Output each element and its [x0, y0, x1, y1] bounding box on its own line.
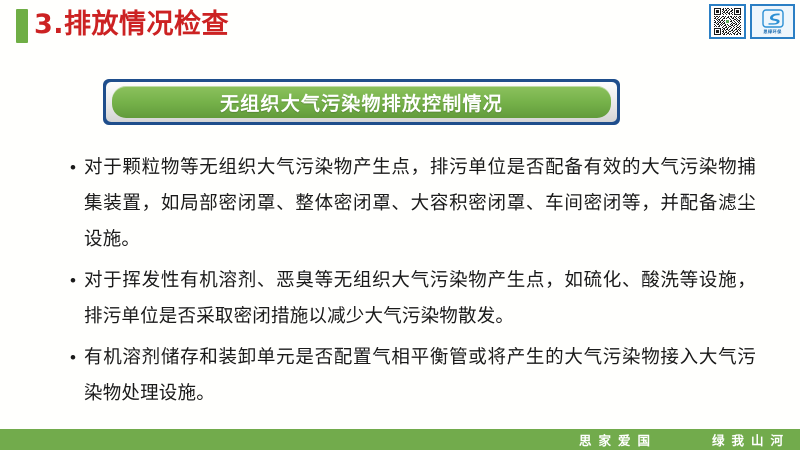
bullet-text: 对于颗粒物等无组织大气污染物产生点，排污单位是否配备有效的大气污染物捕集装置，如… [84, 150, 756, 258]
qr-code-badge[interactable] [709, 4, 746, 39]
section-banner-inner-frame: 无组织大气污染物排放控制情况 [106, 82, 617, 122]
bullet-marker-icon: • [66, 340, 84, 376]
page-title: 3.排放情况检查 [34, 5, 229, 45]
bullet-marker-icon: • [66, 263, 84, 299]
bullet-item: • 对于挥发性有机溶剂、恶臭等无组织大气污染物产生点，如硫化、酸洗等设施，排污单… [66, 263, 756, 335]
bullet-text: 对于挥发性有机溶剂、恶臭等无组织大气污染物产生点，如硫化、酸洗等设施，排污单位是… [84, 263, 756, 335]
brand-logo-badge[interactable]: 思绿环保 [750, 4, 795, 39]
content-body: • 对于颗粒物等无组织大气污染物产生点，排污单位是否配备有效的大气污染物捕集装置… [66, 150, 756, 417]
slide-footer: 思家爱国 绿我山河 [0, 429, 800, 450]
s-leaf-logo-icon [762, 9, 784, 28]
bullet-text: 有机溶剂储存和装卸单元是否配置气相平衡管或将产生的大气污染物接入大气污染物处理设… [84, 340, 756, 412]
header-badges: 思绿环保 [709, 4, 795, 39]
bullet-item: • 有机溶剂储存和装卸单元是否配置气相平衡管或将产生的大气污染物接入大气污染物处… [66, 340, 756, 412]
section-banner-label: 无组织大气污染物排放控制情况 [220, 89, 503, 116]
section-banner: 无组织大气污染物排放控制情况 [103, 79, 620, 125]
qr-code-icon [712, 7, 743, 36]
brand-logo-text: 思绿环保 [763, 29, 781, 34]
bullet-item: • 对于颗粒物等无组织大气污染物产生点，排污单位是否配备有效的大气污染物捕集装置… [66, 150, 756, 258]
title-accent-bar [16, 9, 28, 43]
bullet-marker-icon: • [66, 150, 84, 186]
footer-phrase-left: 思家爱国 [579, 430, 657, 449]
slide-header: 3.排放情况检查 [0, 0, 800, 52]
section-banner-pill: 无组织大气污染物排放控制情况 [112, 86, 611, 118]
footer-phrase-right: 绿我山河 [712, 430, 790, 449]
